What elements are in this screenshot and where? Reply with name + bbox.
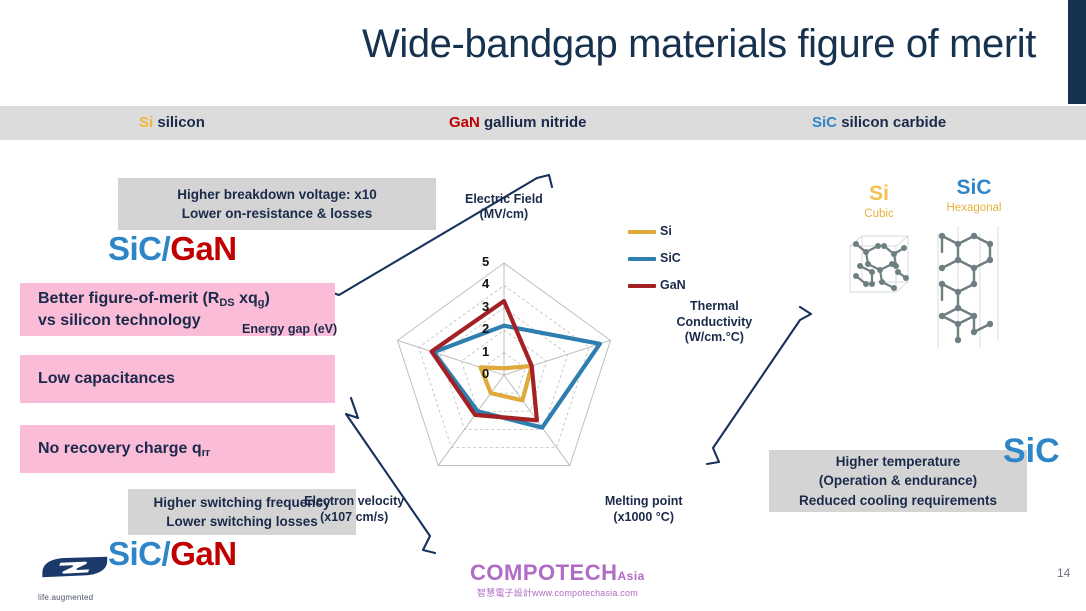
material-name-gan: gallium nitride xyxy=(484,114,587,131)
crystal-structure-cubic-icon xyxy=(838,226,920,308)
callout-capacitances-text: Low capacitances xyxy=(38,368,175,390)
wordmark-sic-gan-top: SiC/GaN xyxy=(108,230,237,268)
fom-sub-ds: DS xyxy=(219,297,234,309)
wordmark-sic-gan-bottom: SiC/GaN xyxy=(108,535,237,573)
callout-temperature-line3: Reduced cooling requirements xyxy=(799,491,997,510)
callout-no-recovery-charge: No recovery charge qrr xyxy=(20,425,335,473)
radar-tick-5: 5 xyxy=(482,254,489,269)
legend-swatch-sic xyxy=(628,257,656,261)
lattice-sic-subtitle: Hexagonal xyxy=(928,202,1020,214)
wordmark-top-sic: SiC xyxy=(108,230,162,267)
radar-axis-label-3: Electron velocity(x107 cm/s) xyxy=(304,494,404,525)
fom-line1-post: ) xyxy=(264,290,269,307)
material-legend-band: Si silicon GaN gallium nitride SiC silic… xyxy=(0,106,1086,140)
watermark-main-text: COMPOTECHAsia xyxy=(470,562,645,584)
watermark-asia: Asia xyxy=(618,569,645,583)
radar-tick-0: 0 xyxy=(482,366,489,381)
callout-temperature: Higher temperature (Operation & enduranc… xyxy=(769,450,1027,512)
radar-chart: 012345Electric Field(MV/cm)ThermalConduc… xyxy=(352,212,732,492)
st-logo-tagline: life.augmented xyxy=(38,593,93,602)
st-logo xyxy=(40,555,112,584)
watermark-compotech: COMPOTECH xyxy=(470,560,618,585)
qrr-sub: rr xyxy=(202,447,211,459)
radar-axis-label-0: Electric Field(MV/cm) xyxy=(465,192,543,223)
material-name-sic: silicon carbide xyxy=(841,114,946,131)
wordmark-bottom-slash: / xyxy=(162,535,171,572)
page-number: 14 xyxy=(1057,566,1070,580)
callout-temperature-line1: Higher temperature xyxy=(836,452,961,471)
material-symbol-si: Si xyxy=(139,114,153,131)
lattice-panel-si: Si Cubic xyxy=(838,182,920,308)
watermark-subtitle: 智慧電子設計www.compotechasia.com xyxy=(470,586,645,599)
radar-tick-2: 2 xyxy=(482,321,489,336)
fom-line2: vs silicon technology xyxy=(38,312,201,329)
wordmark-bottom-sic: SiC xyxy=(108,535,162,572)
radar-axis-label-1: ThermalConductivity(W/cm.°C) xyxy=(677,299,753,346)
fom-line1-pre: Better figure-of-merit (R xyxy=(38,290,219,307)
radar-axis-label-2: Melting point(x1000 °C) xyxy=(605,494,683,525)
legend-label-sic: SiC xyxy=(660,251,681,265)
material-name-si: silicon xyxy=(157,114,205,131)
slide-canvas: Wide-bandgap materials figure of merit S… xyxy=(0,0,1086,611)
fom-sub-g: g xyxy=(258,297,265,309)
qrr-text: No recovery charge q xyxy=(38,440,202,457)
material-symbol-gan: GaN xyxy=(449,114,480,131)
crystal-structure-hexagonal-icon xyxy=(928,220,1008,360)
radar-tick-1: 1 xyxy=(482,344,489,359)
page-title: Wide-bandgap materials figure of merit xyxy=(0,22,1060,66)
wordmark-top-gan: GaN xyxy=(170,230,236,267)
fom-line1-mid: xq xyxy=(235,290,258,307)
legend-label-si: Si xyxy=(660,224,672,238)
material-item-si: Si silicon xyxy=(139,106,205,140)
callout-switching-line2: Lower switching losses xyxy=(166,512,318,531)
radar-tick-4: 4 xyxy=(482,276,489,291)
radar-axis-label-4: Energy gap (eV) xyxy=(242,322,337,338)
wordmark-top-slash: / xyxy=(162,230,171,267)
callout-temperature-line2: (Operation & endurance) xyxy=(819,471,977,490)
material-item-gan: GaN gallium nitride xyxy=(449,106,587,140)
lattice-sic-title: SiC xyxy=(928,176,1020,199)
material-item-sic: SiC silicon carbide xyxy=(812,106,946,140)
wordmark-sic-right: SiC xyxy=(1003,432,1060,471)
callout-breakdown-line2: Lower on-resistance & losses xyxy=(182,204,373,223)
lattice-si-title: Si xyxy=(838,182,920,205)
material-symbol-sic: SiC xyxy=(812,114,837,131)
wordmark-bottom-gan: GaN xyxy=(170,535,236,572)
legend-swatch-si xyxy=(628,230,656,234)
legend-label-gan: GaN xyxy=(660,278,686,292)
radar-tick-3: 3 xyxy=(482,299,489,314)
lattice-si-subtitle: Cubic xyxy=(838,208,920,220)
lattice-panel-sic: SiC Hexagonal xyxy=(928,176,1020,360)
legend-swatch-gan xyxy=(628,284,656,288)
callout-breakdown-line1: Higher breakdown voltage: x10 xyxy=(177,185,377,204)
compotech-watermark: COMPOTECHAsia 智慧電子設計www.compotechasia.co… xyxy=(470,562,645,599)
callout-low-capacitances: Low capacitances xyxy=(20,355,335,403)
header-accent-bar xyxy=(1068,0,1086,104)
